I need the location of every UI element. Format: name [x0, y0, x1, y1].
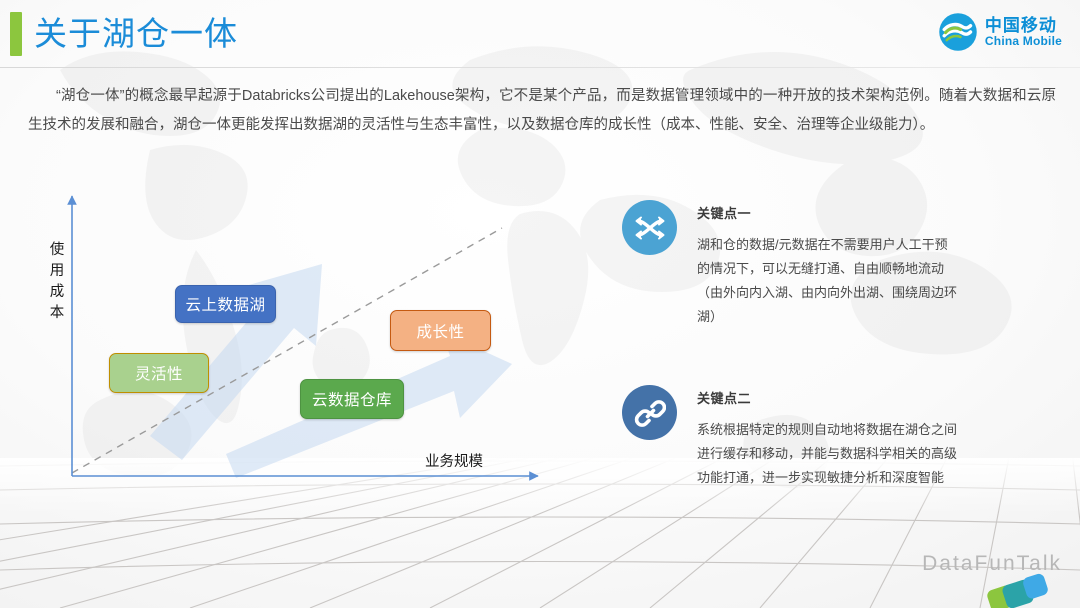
brand-name-cn: 中国移动: [985, 17, 1062, 35]
x-axis-label: 业务规模: [425, 450, 483, 471]
page-title: 关于湖仓一体: [34, 8, 238, 60]
key-point-1-title: 关键点一: [697, 203, 959, 222]
china-mobile-logo: 中国移动 China Mobile: [938, 12, 1062, 52]
slide: 关于湖仓一体 中国移动 China Mobile “湖仓一体”的概念最早起源于D…: [0, 0, 1080, 608]
china-mobile-mark-icon: [938, 12, 978, 52]
key-point-2: 关键点二 系统根据特定的规则自动地将数据在湖仓之间进行缓存和移动，并能与数据科学…: [622, 385, 1022, 490]
key-point-1-text: 湖和仓的数据/元数据在不需要用户人工干预的情况下，可以无缝打通、自由顺畅地流动（…: [697, 233, 959, 329]
title-accent-bar: [10, 12, 22, 56]
y-axis-label: 使用成本: [46, 240, 68, 324]
datafuntalk-logo-icon: [970, 568, 1066, 608]
tag-cloud-data-lake: 云上数据湖: [175, 285, 276, 323]
brand-name-en: China Mobile: [985, 35, 1062, 48]
tag-flexibility: 灵活性: [109, 353, 209, 393]
tag-cloud-data-warehouse: 云数据仓库: [300, 379, 404, 419]
key-points-list: 关键点一 湖和仓的数据/元数据在不需要用户人工干预的情况下，可以无缝打通、自由顺…: [622, 200, 1022, 490]
slide-header: 关于湖仓一体: [0, 0, 1080, 68]
link-icon: [622, 385, 677, 440]
intro-paragraph: “湖仓一体”的概念最早起源于Databricks公司提出的Lakehouse架构…: [28, 82, 1056, 140]
key-point-2-text: 系统根据特定的规则自动地将数据在湖仓之间进行缓存和移动，并能与数据科学相关的高级…: [697, 418, 959, 490]
lakehouse-cost-scale-chart: [30, 186, 590, 496]
key-point-1: 关键点一 湖和仓的数据/元数据在不需要用户人工干预的情况下，可以无缝打通、自由顺…: [622, 200, 1022, 329]
key-point-2-title: 关键点二: [697, 388, 959, 407]
tag-growth: 成长性: [390, 310, 491, 351]
shuffle-icon: [622, 200, 677, 255]
header-divider: [0, 67, 1080, 68]
